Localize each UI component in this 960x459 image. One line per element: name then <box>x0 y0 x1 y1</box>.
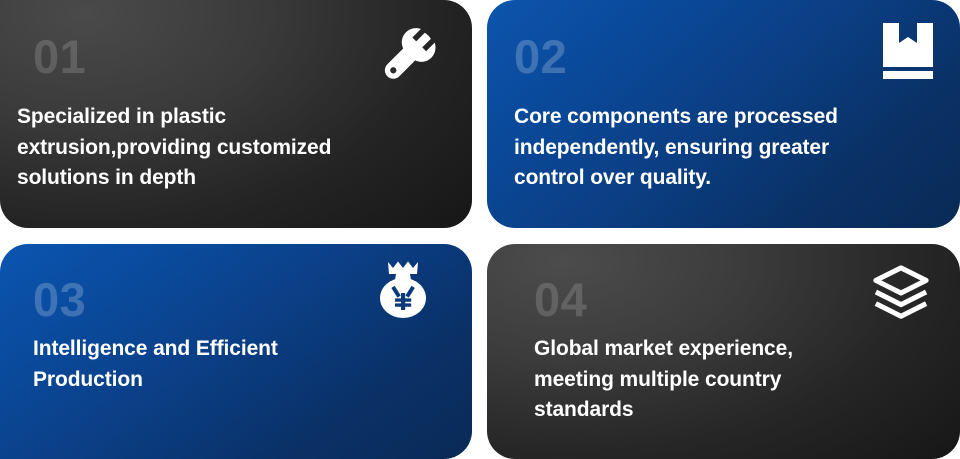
card-content: 01 Specialized in plastic extrusion,prov… <box>0 0 472 228</box>
card-text-02: Core components are processed independen… <box>514 102 944 194</box>
feature-card-01[interactable]: 01 Specialized in plastic extrusion,prov… <box>0 0 472 228</box>
money-bag-yen-icon <box>374 258 432 320</box>
card-content: 02 Core components are processed indepen… <box>487 0 960 228</box>
layers-icon <box>870 264 932 322</box>
feature-card-02[interactable]: 02 Core components are processed indepen… <box>487 0 960 228</box>
card-content: 03 <box>0 244 472 459</box>
card-number-01: 01 <box>33 33 86 80</box>
card-content: 04 Global market experience, meeting mul… <box>487 244 960 459</box>
book-bookmark-icon <box>883 23 933 79</box>
feature-card-grid: 01 Specialized in plastic extrusion,prov… <box>0 0 960 459</box>
card-text-01: Specialized in plastic extrusion,providi… <box>17 102 447 194</box>
card-text-03: Intelligence and Efficient Production <box>33 334 433 395</box>
card-number-04: 04 <box>534 276 587 323</box>
feature-card-03[interactable]: 03 <box>0 244 472 459</box>
card-text-04: Global market experience, meeting multip… <box>534 334 914 426</box>
card-number-02: 02 <box>514 33 567 80</box>
feature-card-04[interactable]: 04 Global market experience, meeting mul… <box>487 244 960 459</box>
card-number-03: 03 <box>33 276 86 323</box>
wrench-icon <box>380 27 436 83</box>
